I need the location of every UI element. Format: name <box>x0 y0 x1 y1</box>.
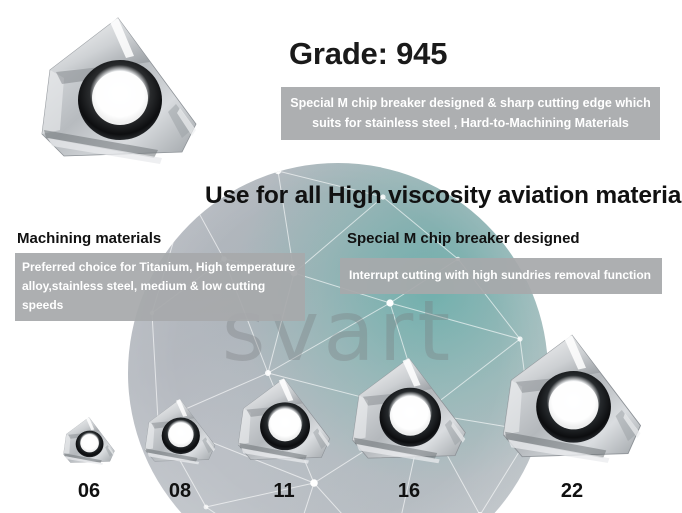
threading-insert-06 <box>60 415 118 466</box>
chip-breaker-heading: Special M chip breaker designed <box>347 230 580 247</box>
machining-materials-banner: Preferred choice for Titanium, High temp… <box>15 253 305 321</box>
insert-size-label-11: 11 <box>273 480 294 503</box>
insert-size-label-08: 08 <box>169 480 191 503</box>
chip-breaker-banner: Interrupt cutting with high sundries rem… <box>340 258 662 294</box>
grade-banner-line-2: suits for stainless steel , Hard-to-Mach… <box>289 113 652 133</box>
grade-description-banner: Special M chip breaker designed & sharp … <box>281 87 660 140</box>
threading-insert-hero <box>30 12 208 170</box>
grade-title: Grade: 945 <box>289 36 447 72</box>
machining-banner-line-2: alloy,stainless steel, medium & low cutt… <box>22 277 298 315</box>
threading-insert-22 <box>494 329 650 466</box>
grade-banner-line-1: Special M chip breaker designed & sharp … <box>289 93 652 113</box>
machining-banner-line-1: Preferred choice for Titanium, High temp… <box>22 258 298 277</box>
insert-size-label-06: 06 <box>78 480 100 503</box>
threading-insert-08 <box>140 396 220 466</box>
chip-breaker-banner-line-1: Interrupt cutting with high sundries rem… <box>349 267 653 284</box>
insert-size-label-22: 22 <box>561 480 583 503</box>
machining-materials-heading: Machining materials <box>17 230 161 247</box>
usage-subheading: Use for all High viscosity aviation mate… <box>205 182 682 210</box>
threading-insert-11 <box>232 374 336 466</box>
threading-insert-16 <box>345 353 473 466</box>
insert-size-label-16: 16 <box>398 480 420 503</box>
product-poster: svart <box>0 0 682 513</box>
